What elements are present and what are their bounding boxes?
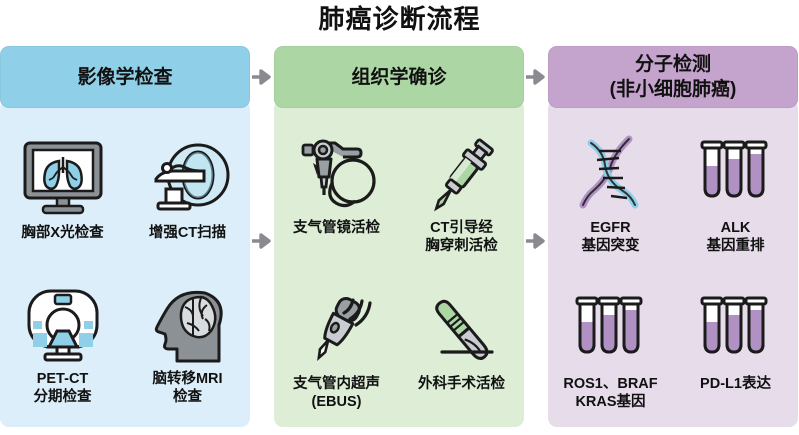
- stage-header-molecular: 分子检测 (非小细胞肺癌): [548, 46, 798, 108]
- item-brain-mri[interactable]: 脑转移MRI 检查: [129, 283, 247, 406]
- head-brain-icon: [142, 283, 234, 367]
- item-pdl1[interactable]: PD-L1表达: [677, 288, 795, 393]
- ultrasound-probe-icon: [291, 288, 383, 372]
- scalpel-icon: [416, 288, 508, 372]
- ct-scanner-bed-icon: [142, 137, 234, 221]
- item-label: 外科手术活检: [418, 375, 505, 393]
- item-label: 增强CT扫描: [149, 224, 226, 242]
- histology-row-1: 支气管镜活检: [274, 132, 524, 255]
- stage-body-histology: 支气管镜活检: [274, 100, 524, 427]
- item-label: 胸部X光检查: [21, 224, 103, 242]
- stage-title-imaging: 影像学检查: [77, 65, 172, 90]
- arrow-imaging-to-histology-mid: [251, 231, 273, 251]
- item-label: ROS1、BRAF KRAS基因: [563, 375, 657, 411]
- arrow-histology-to-molecular-mid: [525, 231, 547, 251]
- item-pet-ct[interactable]: PET-CT 分期检查: [4, 283, 122, 406]
- item-bronchoscopy-biopsy[interactable]: 支气管镜活检: [278, 132, 396, 237]
- item-label: 脑转移MRI 检查: [152, 370, 222, 406]
- stage-molecular: 分子检测 (非小细胞肺癌) EGFR 基因突变: [548, 46, 798, 427]
- stage-imaging: 影像学检查: [0, 46, 250, 427]
- arrow-histology-to-molecular-top: [525, 67, 547, 87]
- pet-ct-scanner-icon: [17, 283, 109, 367]
- stage-header-imaging: 影像学检查: [0, 46, 250, 108]
- diagnostic-flow: 影像学检查: [0, 46, 799, 435]
- syringe-needle-icon: [416, 132, 508, 216]
- item-label: 支气管内超声 (EBUS): [293, 375, 380, 411]
- item-label: CT引导经 胸穿刺活检: [425, 219, 498, 255]
- arrow-gap-2: [524, 46, 548, 427]
- item-chest-xray[interactable]: 胸部X光检查: [4, 137, 122, 242]
- item-alk[interactable]: ALK 基因重排: [677, 132, 795, 255]
- item-label: PD-L1表达: [700, 375, 771, 393]
- molecular-row-2: ROS1、BRAF KRAS基因: [548, 288, 798, 411]
- item-ros1-braf-kras[interactable]: ROS1、BRAF KRAS基因: [552, 288, 670, 411]
- imaging-row-2: PET-CT 分期检查 脑转移MRI 检查: [0, 283, 250, 406]
- stage-body-imaging: 胸部X光检查: [0, 100, 250, 427]
- test-tubes-icon: [690, 288, 782, 372]
- test-tubes-icon: [690, 132, 782, 216]
- dna-helix-icon: [565, 132, 657, 216]
- item-enhanced-ct[interactable]: 增强CT扫描: [129, 137, 247, 242]
- item-label: PET-CT 分期检查: [34, 370, 92, 406]
- stage-title-histology: 组织学确诊: [351, 65, 446, 90]
- monitor-lungs-icon: [17, 137, 109, 221]
- item-ebus[interactable]: 支气管内超声 (EBUS): [278, 288, 396, 411]
- item-label: 支气管镜活检: [293, 219, 380, 237]
- arrow-gap-1: [250, 46, 274, 427]
- bronchoscope-icon: [291, 132, 383, 216]
- item-label: ALK 基因重排: [707, 219, 765, 255]
- histology-row-2: 支气管内超声 (EBUS): [274, 288, 524, 411]
- arrow-imaging-to-histology-top: [251, 67, 273, 87]
- test-tubes-icon: [565, 288, 657, 372]
- stage-header-histology: 组织学确诊: [274, 46, 524, 108]
- item-surgical-biopsy[interactable]: 外科手术活检: [403, 288, 521, 393]
- stage-body-molecular: EGFR 基因突变: [548, 100, 798, 427]
- stage-title-molecular: 分子检测: [610, 52, 737, 77]
- item-label: EGFR 基因突变: [582, 219, 640, 255]
- item-egfr[interactable]: EGFR 基因突变: [552, 132, 670, 255]
- item-ct-guided-needle-biopsy[interactable]: CT引导经 胸穿刺活检: [403, 132, 521, 255]
- molecular-row-1: EGFR 基因突变: [548, 132, 798, 255]
- page-title: 肺癌诊断流程: [0, 2, 799, 36]
- stage-subtitle-molecular: (非小细胞肺癌): [610, 77, 737, 102]
- stage-histology: 组织学确诊: [274, 46, 524, 427]
- imaging-row-1: 胸部X光检查: [0, 137, 250, 242]
